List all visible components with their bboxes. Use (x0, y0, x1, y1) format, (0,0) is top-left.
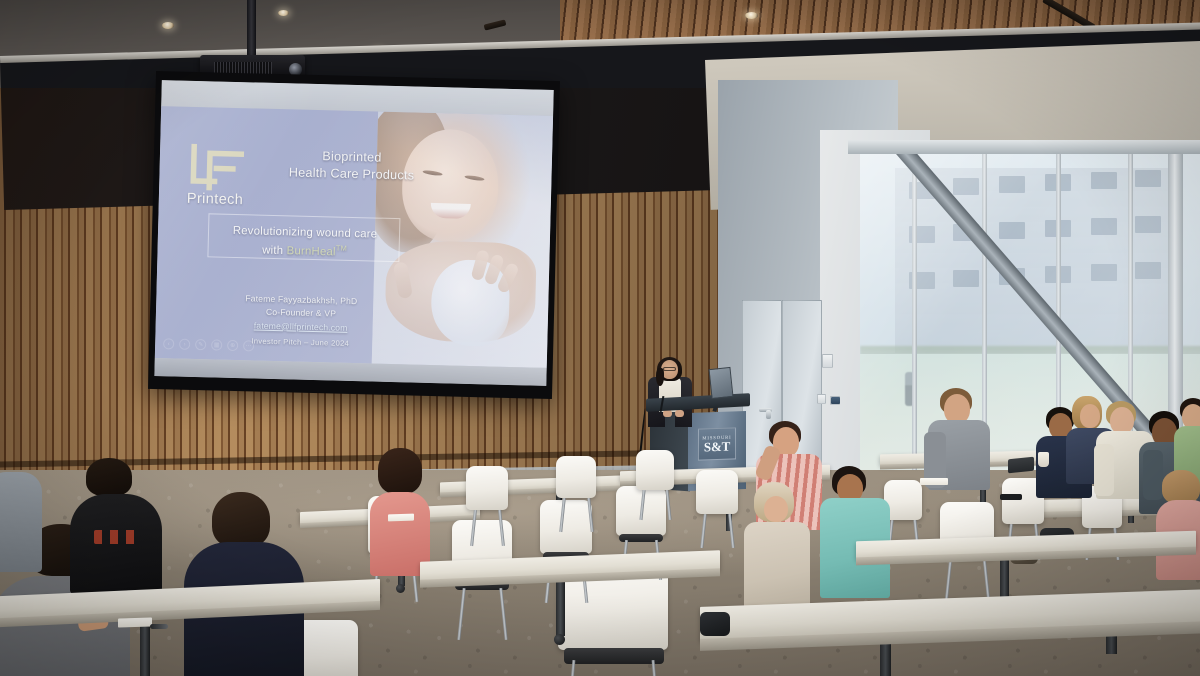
table-leg (556, 578, 565, 636)
table-caster (554, 634, 565, 645)
university-logo: MISSOURI S&T (698, 427, 736, 460)
person-arm (1143, 450, 1163, 500)
projection-screen: Printech Bioprinted Health Care Products… (148, 71, 560, 399)
person-arm (1094, 444, 1114, 496)
company-logo: Printech (186, 141, 266, 217)
recessed-light-icon (278, 10, 289, 16)
chair-back (696, 470, 738, 514)
person-head (1110, 407, 1134, 434)
presenter-hand (675, 410, 684, 417)
tagline-prefix: with (262, 244, 287, 257)
phone[interactable] (1000, 494, 1022, 500)
paper-sheet[interactable] (388, 514, 414, 522)
presentation-room-scene: Printech Bioprinted Health Care Products… (0, 0, 1200, 676)
product-name: BurnHeal (286, 245, 335, 258)
slide-grid-icon[interactable]: ▦ (211, 339, 222, 350)
paper-sheet[interactable] (118, 617, 152, 627)
recessed-light-icon (745, 12, 758, 19)
light-switch-plate[interactable] (822, 354, 833, 368)
table-caster (396, 584, 405, 593)
company-name: Printech (187, 191, 244, 208)
shirt-graphic (94, 530, 142, 544)
chair-back (556, 456, 596, 498)
next-slide-icon[interactable]: › (179, 339, 190, 350)
window-head-trim (848, 140, 1200, 154)
laptop[interactable] (1008, 457, 1034, 474)
coffee-cup[interactable] (1038, 452, 1049, 467)
projector-mount-pole (247, 0, 256, 58)
recessed-light-icon (162, 22, 174, 29)
lf-monogram-icon (187, 141, 250, 195)
previous-slide-icon[interactable]: ‹ (163, 338, 174, 349)
person-head (764, 496, 788, 522)
presenter-glasses (663, 367, 676, 371)
confidence-monitor (708, 367, 733, 399)
slide-tagline-box: Revolutionizing wound care with BurnHeal… (207, 213, 400, 262)
wall-plate (817, 394, 826, 404)
slide-title: Bioprinted Health Care Products (271, 147, 432, 184)
zoom-tool-icon[interactable]: ⊕ (227, 340, 238, 351)
presenter-hair (656, 368, 664, 386)
chair-back (466, 466, 508, 510)
backpack (700, 612, 730, 636)
presenter-hand (663, 410, 672, 417)
university-logo-main: S&T (704, 440, 730, 454)
pen[interactable] (150, 624, 168, 629)
person-head (1080, 404, 1100, 428)
av-control-panel[interactable] (831, 397, 840, 404)
person-hair (86, 458, 132, 496)
paper-sheet[interactable] (920, 478, 948, 485)
slide-presenter-block: Fateme Fayyazbakhsh, PhD Co-Founder & VP… (196, 291, 407, 336)
trademark-symbol: TM (336, 243, 347, 252)
chair-back (540, 500, 592, 554)
slide-title-line2: Health Care Products (271, 164, 431, 185)
chair-seat (564, 648, 664, 664)
person-hair (1162, 470, 1200, 504)
screen-surface: Printech Bioprinted Health Care Products… (154, 80, 553, 386)
person-hair (378, 448, 422, 494)
person-torso (70, 494, 162, 594)
door-handle-icon[interactable] (766, 410, 771, 419)
person-hair (212, 492, 270, 548)
person-torso (0, 472, 42, 572)
chair-back (636, 450, 674, 490)
presentation-toolbar[interactable]: ‹ › ✎ ▦ ⊕ ⋯ (163, 338, 254, 351)
more-options-icon[interactable]: ⋯ (243, 340, 254, 351)
presentation-slide: Printech Bioprinted Health Care Products… (155, 106, 553, 368)
slide-tagline: Revolutionizing wound care with BurnHeal… (208, 222, 401, 262)
pen-tool-icon[interactable]: ✎ (195, 339, 206, 350)
